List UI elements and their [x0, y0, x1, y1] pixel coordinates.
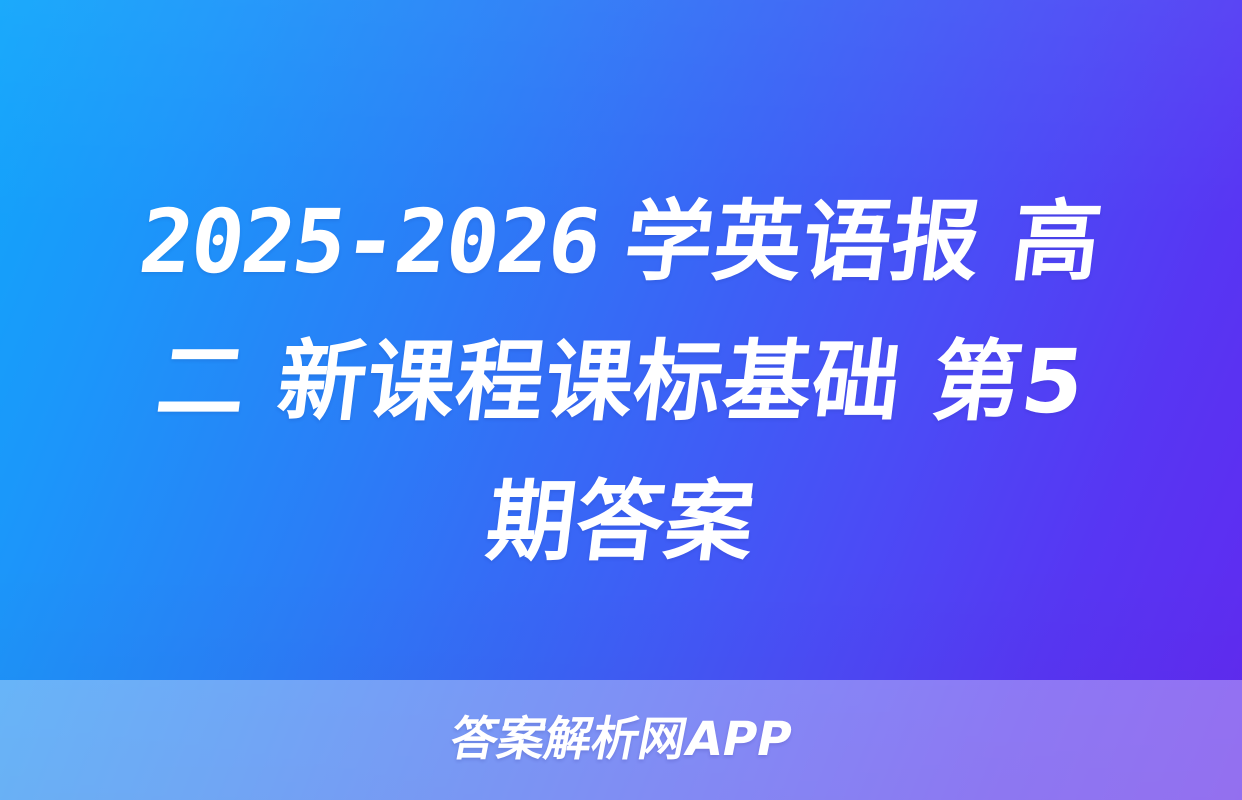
title-line-1-text: 学英语报 高 — [619, 190, 1108, 293]
page-title: 2025-2026学英语报 高 二 新课程课标基础 第5 期答案 — [0, 172, 1242, 592]
title-year-range: 2025-2026 — [134, 190, 605, 293]
title-line-3-text: 期答案 — [481, 470, 761, 573]
title-line-2: 二 新课程课标基础 第5 — [57, 312, 1184, 452]
app-watermark-label: 答案解析网APP — [446, 714, 796, 766]
footer-watermark-band: 答案解析网APP — [0, 680, 1242, 800]
title-line-2-text: 二 新课程课标基础 第5 — [151, 330, 1090, 433]
poster-canvas: 2025-2026学英语报 高 二 新课程课标基础 第5 期答案 答案解析网AP… — [0, 0, 1242, 800]
title-line-1: 2025-2026学英语报 高 — [57, 172, 1184, 312]
title-line-3: 期答案 — [57, 452, 1184, 592]
